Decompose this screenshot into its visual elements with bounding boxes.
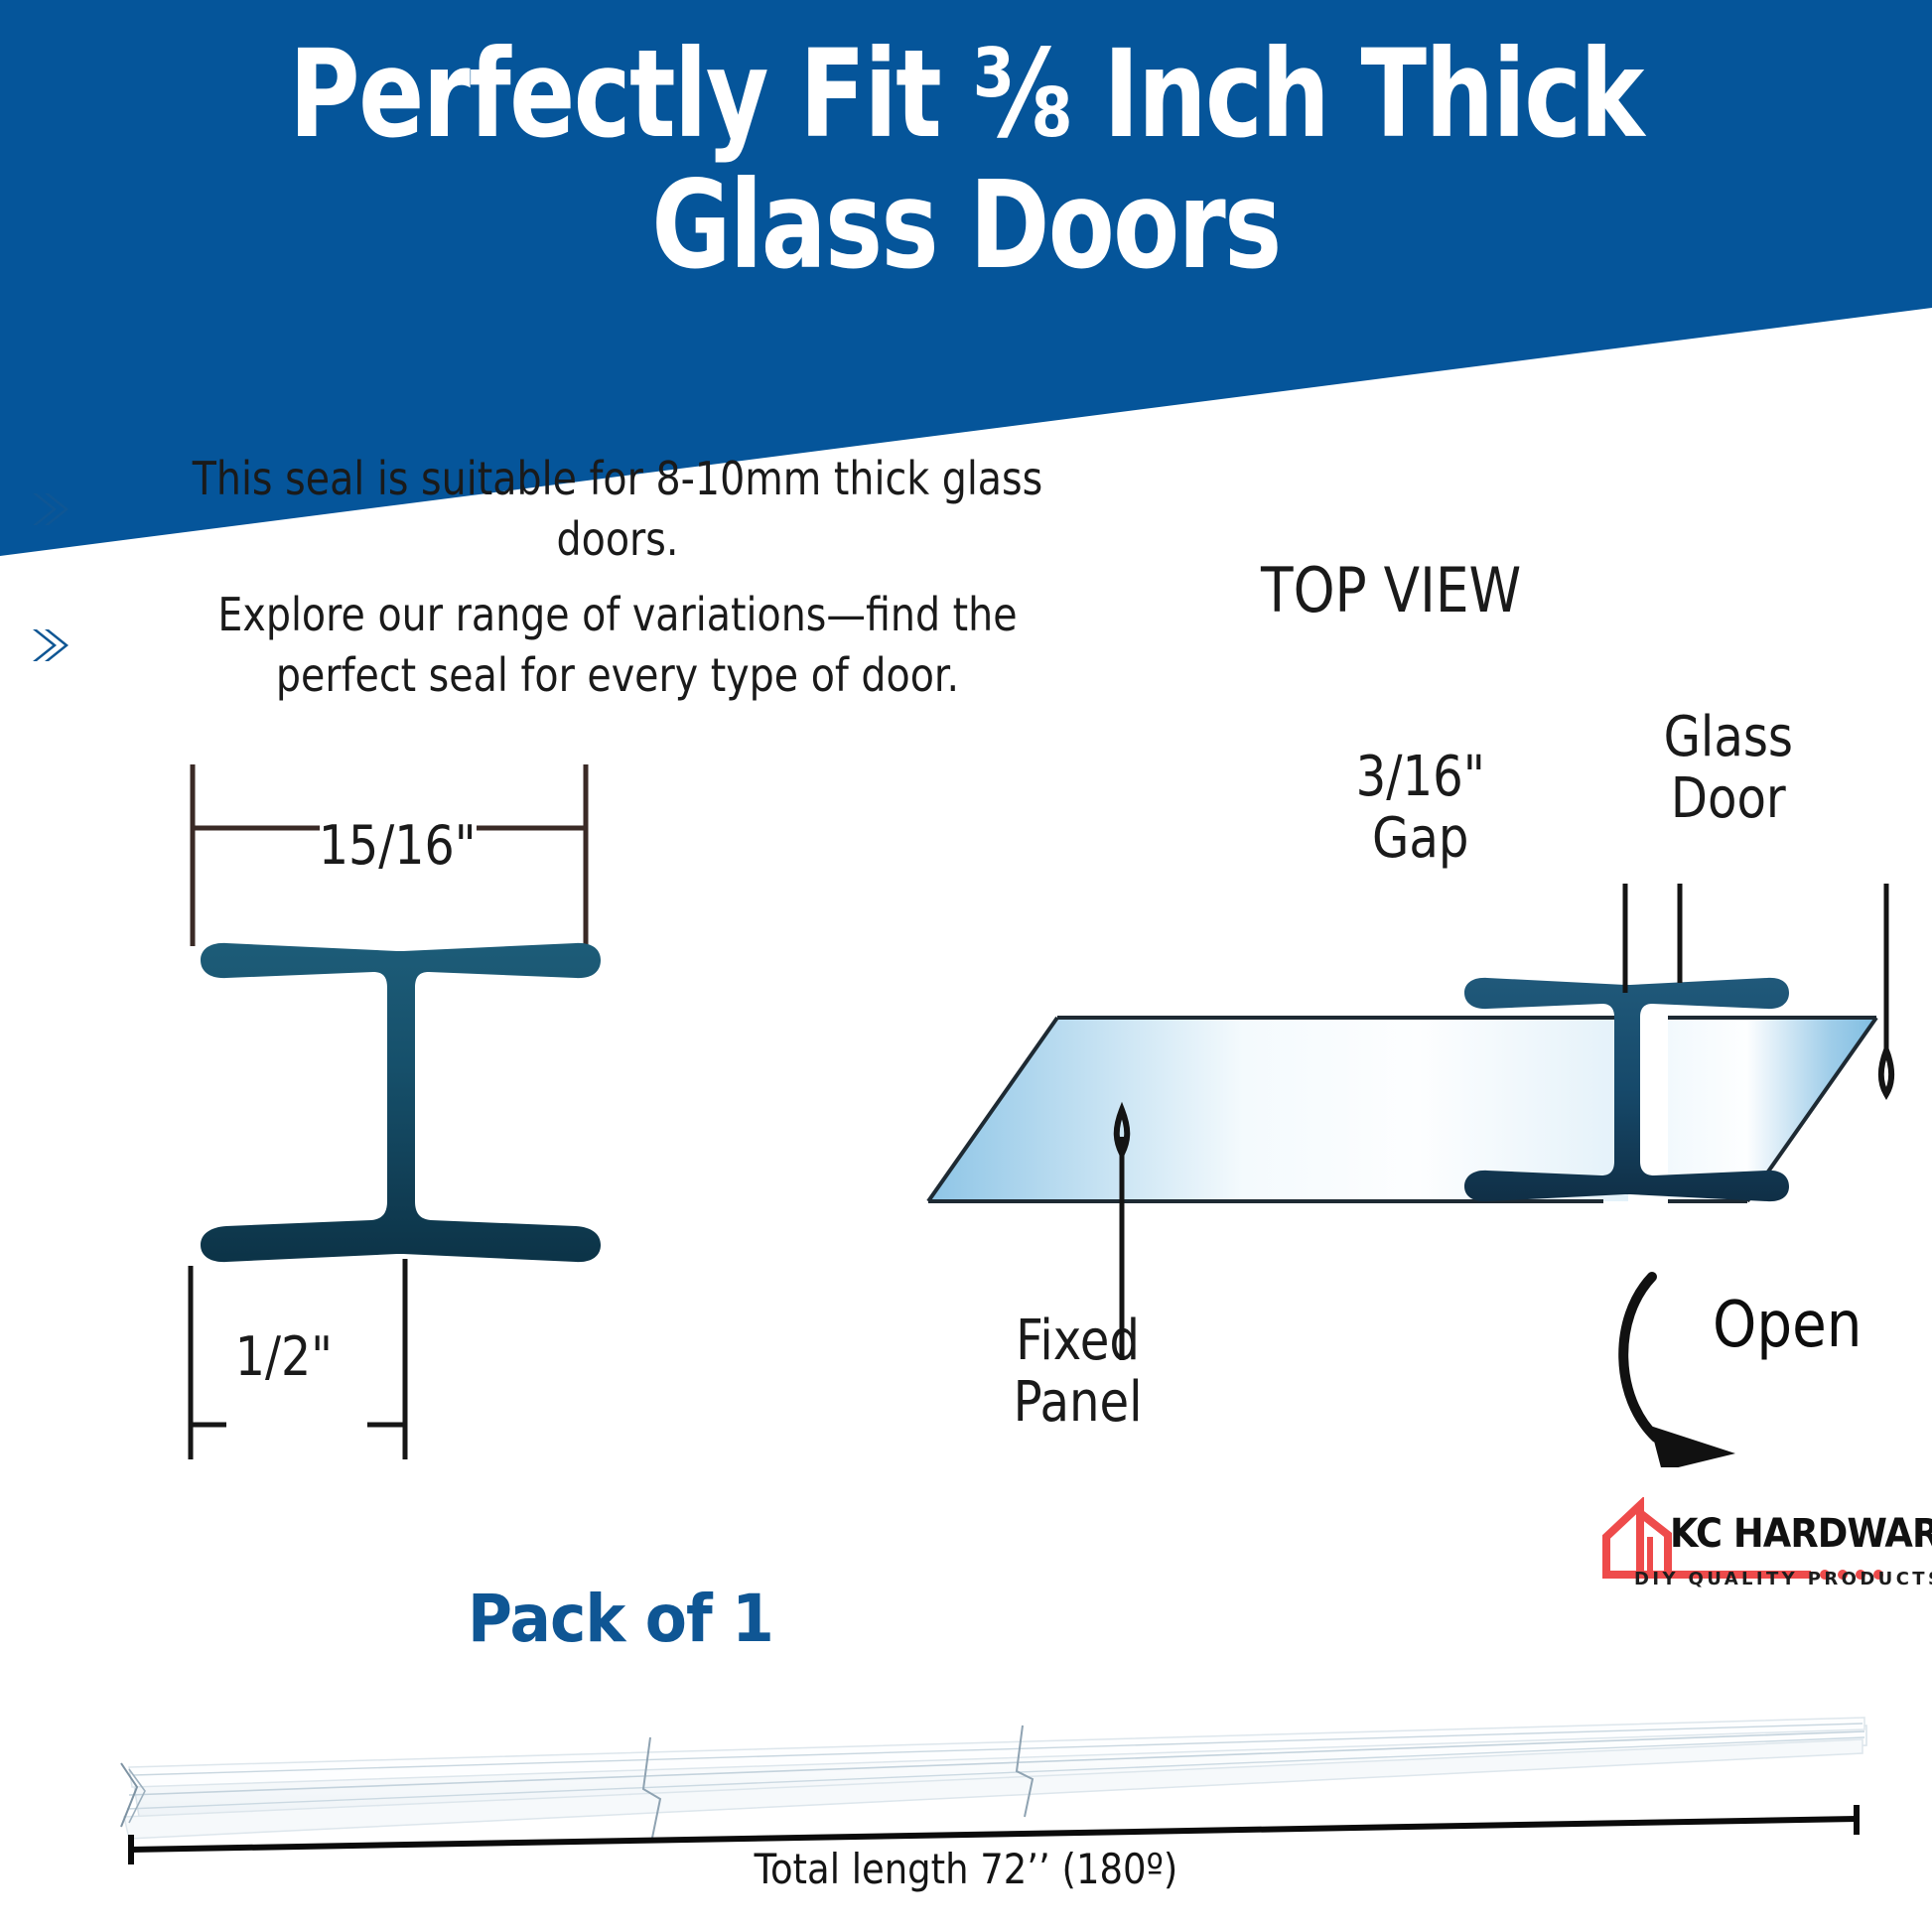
title-line-2: Glass Doors xyxy=(194,161,1739,292)
total-length-label: Total length 72’’ (180º) xyxy=(116,1845,1816,1893)
open-rotation-arrow-icon xyxy=(1606,1259,1805,1467)
gap-dimension-label: 3/16" Gap xyxy=(1356,747,1485,869)
glass-door-label: Glass Door xyxy=(1664,707,1793,829)
double-chevron-right-icon xyxy=(22,483,75,536)
kc-hardware-logo: KC HARDWARE DIY QUALITY PRODUCTS xyxy=(1588,1497,1886,1606)
pack-quantity-label: Pack of 1 xyxy=(44,1581,1198,1657)
gap-label-line-2: Gap xyxy=(1356,808,1485,870)
seal-profile-diagram: 15/16" 1/2" xyxy=(149,764,745,1499)
infographic-page: Perfectly Fit ⅜ Inch Thick Glass Doors T… xyxy=(0,0,1932,1932)
feature-bullet-list: This seal is suitable for 8-10mm thick g… xyxy=(22,449,1154,722)
bullet-text: Explore our range of variations—find the… xyxy=(157,585,1079,705)
double-chevron-right-icon xyxy=(22,619,75,672)
fixed-panel-leader-line xyxy=(1117,1110,1128,1360)
logo-tagline: DIY QUALITY PRODUCTS xyxy=(1634,1569,1932,1589)
glass-door-line-2: Door xyxy=(1664,768,1793,830)
glass-door-line-1: Glass xyxy=(1664,707,1793,768)
clear-seal-strip xyxy=(99,1668,1886,1866)
glass-door-leader-line xyxy=(1881,884,1892,1094)
page-title: Perfectly Fit ⅜ Inch Thick Glass Doors xyxy=(194,30,1739,292)
height-dimension-label: 1/2" xyxy=(235,1325,333,1388)
bullet-text: This seal is suitable for 8-10mm thick g… xyxy=(157,449,1079,569)
top-view-title: TOP VIEW xyxy=(1261,554,1521,626)
gap-label-line-1: 3/16" xyxy=(1356,747,1485,808)
width-dimension-label: 15/16" xyxy=(319,814,477,877)
logo-wordmark: KC HARDWARE xyxy=(1670,1511,1932,1557)
product-strip-photo xyxy=(99,1668,1886,1866)
list-item: Explore our range of variations—find the… xyxy=(22,585,1154,705)
seal-cross-section xyxy=(201,943,601,1262)
fixed-panel-line-2: Panel xyxy=(1014,1372,1143,1434)
list-item: This seal is suitable for 8-10mm thick g… xyxy=(22,449,1154,569)
title-line-1: Perfectly Fit ⅜ Inch Thick xyxy=(289,24,1643,165)
